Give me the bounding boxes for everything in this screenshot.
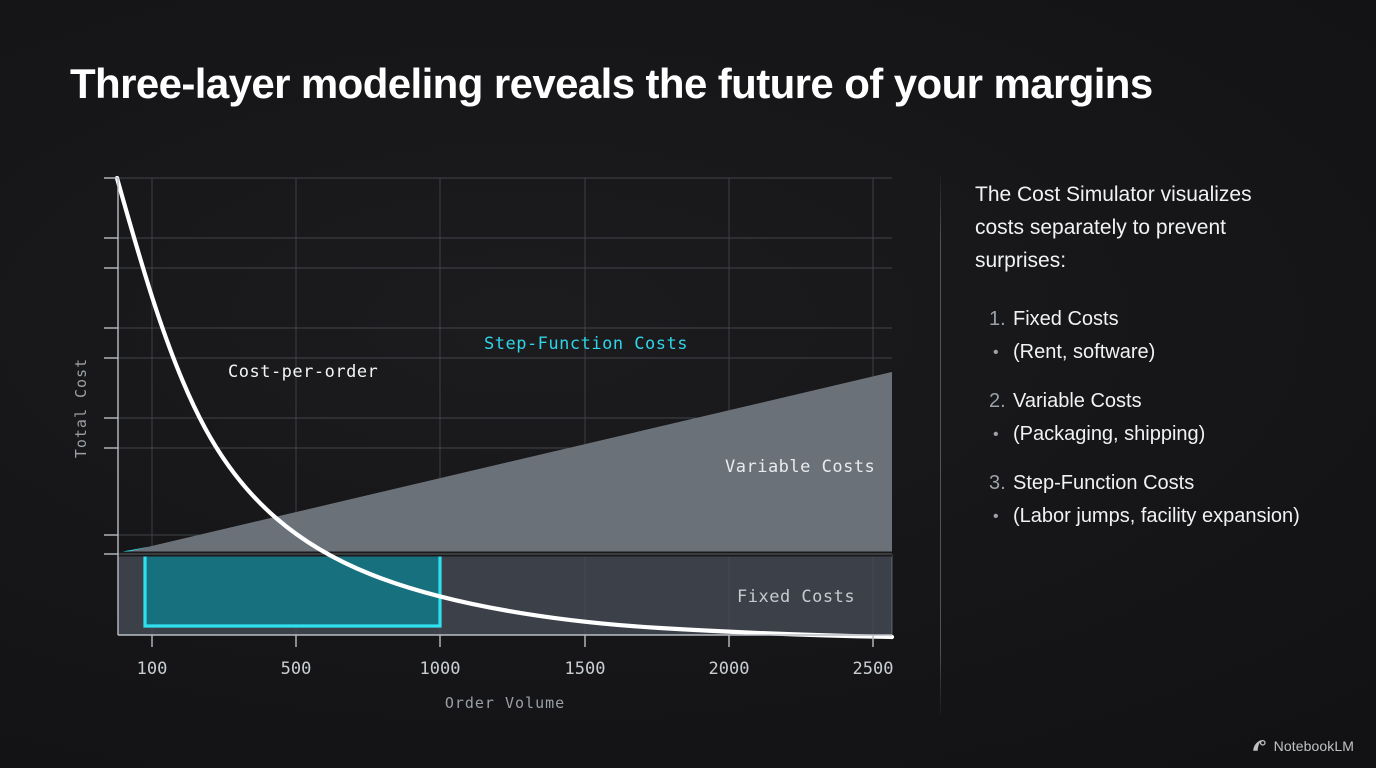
annotation-step-function-costs: Step-Function Costs xyxy=(484,334,688,354)
list-marker-bullet: • xyxy=(975,500,1013,533)
cost-type-subrow: • (Rent, software) xyxy=(975,336,1305,369)
panel-intro-text: The Cost Simulator visualizes costs sepa… xyxy=(975,178,1305,277)
list-marker-number: 3. xyxy=(975,467,1013,500)
list-item: 2. Variable Costs • (Packaging, shipping… xyxy=(975,385,1305,451)
cost-type-label: Fixed Costs xyxy=(1013,303,1305,336)
list-marker-bullet: • xyxy=(975,336,1013,369)
cost-type-row: 3. Step-Function Costs xyxy=(975,467,1305,500)
cost-type-examples: (Rent, software) xyxy=(1013,336,1305,369)
cost-type-label: Variable Costs xyxy=(1013,385,1305,418)
x-tick-label: 500 xyxy=(281,659,312,679)
cost-type-examples: (Packaging, shipping) xyxy=(1013,418,1305,451)
x-axis xyxy=(118,635,892,647)
notebooklm-watermark: NotebookLM xyxy=(1251,737,1354,754)
x-tick-label: 2000 xyxy=(709,659,750,679)
x-tick-label: 100 xyxy=(137,659,168,679)
x-axis-title: Order Volume xyxy=(445,694,565,712)
list-marker-number: 2. xyxy=(975,385,1013,418)
notebooklm-spiral-icon xyxy=(1251,737,1268,754)
page-title: Three-layer modeling reveals the future … xyxy=(70,60,1310,108)
cost-type-list: 1. Fixed Costs • (Rent, software) 2. Var… xyxy=(975,303,1305,533)
annotation-variable-costs: Variable Costs xyxy=(725,457,875,477)
x-tick-label: 1500 xyxy=(565,659,606,679)
annotation-fixed-costs: Fixed Costs xyxy=(737,587,855,607)
x-tick-labels: 100 500 1000 1500 2000 2500 xyxy=(137,659,894,679)
explanation-panel: The Cost Simulator visualizes costs sepa… xyxy=(975,178,1305,549)
list-item: 3. Step-Function Costs • (Labor jumps, f… xyxy=(975,467,1305,533)
list-item: 1. Fixed Costs • (Rent, software) xyxy=(975,303,1305,369)
x-tick-label: 2500 xyxy=(853,659,894,679)
slide-root: Three-layer modeling reveals the future … xyxy=(0,0,1376,768)
x-tick-label: 1000 xyxy=(420,659,461,679)
y-axis xyxy=(104,178,118,635)
cost-type-subrow: • (Packaging, shipping) xyxy=(975,418,1305,451)
watermark-label: NotebookLM xyxy=(1274,738,1354,754)
y-axis-title: Total Cost xyxy=(72,358,90,458)
annotation-cost-per-order: Cost-per-order xyxy=(228,362,378,382)
chart-svg: 100 500 1000 1500 2000 2500 Order Volume… xyxy=(0,150,940,730)
cost-type-examples: (Labor jumps, facility expansion) xyxy=(1013,500,1305,533)
list-marker-number: 1. xyxy=(975,303,1013,336)
cost-simulator-chart: 100 500 1000 1500 2000 2500 Order Volume… xyxy=(0,150,940,730)
cost-type-row: 1. Fixed Costs xyxy=(975,303,1305,336)
panel-divider xyxy=(940,175,941,715)
list-marker-bullet: • xyxy=(975,418,1013,451)
cost-type-subrow: • (Labor jumps, facility expansion) xyxy=(975,500,1305,533)
cost-type-label: Step-Function Costs xyxy=(1013,467,1305,500)
cost-type-row: 2. Variable Costs xyxy=(975,385,1305,418)
